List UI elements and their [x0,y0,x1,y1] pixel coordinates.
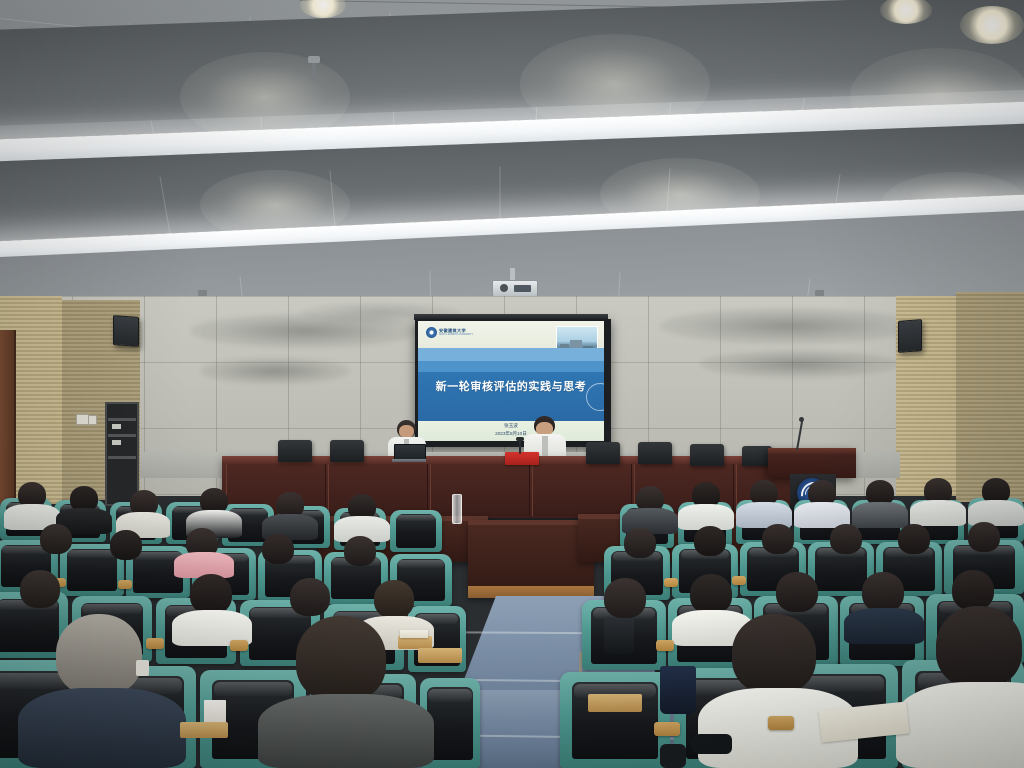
audience-person-head [968,522,1000,552]
head-table-chair [586,442,620,464]
seat-writing-tablet [588,694,642,712]
ceiling-projector [492,268,536,298]
audience-person-head [604,578,646,618]
floor-bag [660,666,696,714]
seat-armrest [118,580,132,589]
seat-writing-tablet [180,722,228,738]
audience-person-head [20,570,60,608]
downlight-icon [300,0,346,18]
audience-person-head-foreground [732,614,816,694]
seat-armrest [664,578,678,587]
presentation-slide: 安徽建筑大学 ANHUI JIANZHU UNIVERSITY 新一轮审核评估的… [418,321,604,441]
university-emblem-icon [426,327,437,338]
face-mask-icon [136,660,149,676]
wood-wall-right-return [956,292,1024,502]
ceiling [0,0,1024,330]
logo-subtext: ANHUI JIANZHU UNIVERSITY [439,334,473,337]
floor-bag [604,618,634,654]
av-equipment-rack[interactable] [105,402,139,506]
audience-person-head [690,574,732,614]
audience-person-head [624,528,656,558]
audience-person-head [344,536,376,566]
front-row-desk-center [468,520,594,598]
lecture-hall-photo: 安徽建筑大学 ANHUI JIANZHU UNIVERSITY 新一轮审核评估的… [0,0,1024,768]
water-bottle [452,494,462,524]
audience-person-shoulders [844,608,924,644]
lectern-microphone-head [799,417,804,422]
head-table-chair [690,444,724,466]
seat-armrest [654,722,680,736]
seat-armrest [146,638,164,649]
projection-screen: 安徽建筑大学 ANHUI JIANZHU UNIVERSITY 新一轮审核评估的… [415,319,611,447]
audience-person-head [862,572,904,612]
slide-date: 2023年8月10日 [418,431,604,437]
red-nameplate [505,452,539,465]
audience-person-shoulders-foreground [18,688,186,768]
seat-armrest [732,576,746,585]
downlight-icon [960,6,1024,44]
audience-person-head [110,530,142,560]
slide-presenter-name: 张玉波 [418,423,604,429]
audience-person-head [898,524,930,554]
audience-person-head [952,570,994,610]
audience-person-shoulders [852,502,908,528]
seat-writing-tablet [418,648,462,663]
audience-seat[interactable] [390,510,442,552]
head-table-chair [638,442,672,464]
side-door-left[interactable] [0,330,16,505]
audience-person-head [762,524,794,554]
slide-title: 新一轮审核评估的实践与思考 [418,378,604,394]
audience-person-shoulders-foreground [896,682,1024,768]
university-logo: 安徽建筑大学 ANHUI JIANZHU UNIVERSITY [426,327,473,338]
handout-paper [400,630,428,638]
slide-band-mid [418,361,604,372]
wall-speaker-left [113,315,139,347]
audience-person-head-foreground [296,616,386,702]
laptop-base [392,459,426,462]
slide-band-light [418,348,604,361]
sprinkler-head-icon [308,56,320,63]
desk-microphone [519,440,521,454]
wall-outlet-plate[interactable] [88,415,97,425]
audience-person-shoulders [968,500,1024,526]
audience-person-head [694,526,726,556]
audience-person-head-foreground [936,606,1022,688]
shoe [690,734,732,754]
audience-person-shoulders [910,500,966,526]
desk-microphone-head [516,437,524,441]
audience-person-shoulders-foreground [258,694,434,768]
audience-person-head [190,574,232,614]
audience-person-head [374,580,414,618]
seat-armrest [656,640,674,651]
thermos [660,744,686,768]
audience-person-head [262,534,294,564]
head-table-chair [278,440,312,462]
audience-person-head-foreground [56,614,142,696]
audience-person-head [40,524,72,554]
audience-person-head [290,578,330,616]
audience-person-head [776,572,818,612]
audience-person-head [830,524,862,554]
head-table-chair [330,440,364,462]
wall-speaker-right [898,319,922,353]
seat-armrest [768,716,794,730]
audience-seat[interactable] [560,672,670,768]
seat-armrest [230,640,248,651]
